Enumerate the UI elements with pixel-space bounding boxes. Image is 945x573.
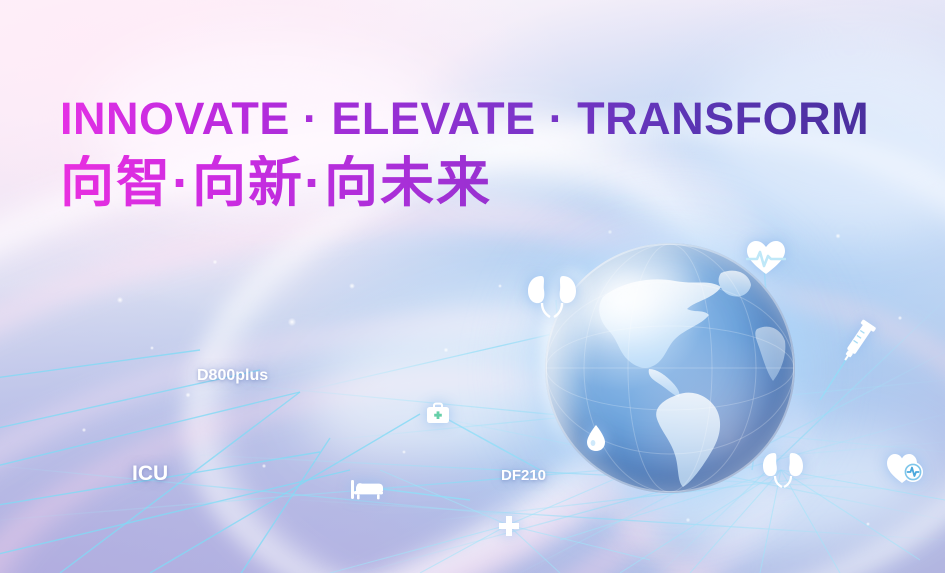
medical-kit-icon [426,402,450,424]
page-subtitle: 向智·向新·向未来 [60,155,869,212]
heart-monitor-icon [886,452,924,484]
hero-banner: INNOVATE · ELEVATE · TRANSFORM 向智·向新·向未来… [0,0,945,573]
page-title: INNOVATE · ELEVATE · TRANSFORM [60,96,869,141]
blood-drop-icon [585,424,607,452]
globe-rim [545,243,795,493]
heart-pulse-icon [746,240,786,276]
medical-cross-icon [498,515,520,537]
kidneys-lower-icon [760,450,806,490]
hospital-bed-icon [350,478,384,500]
headline-group: INNOVATE · ELEVATE · TRANSFORM 向智·向新·向未来 [60,96,869,212]
product-label-icu: ICU [132,462,168,486]
product-label-df210: DF210 [501,467,546,484]
product-label-d800plus: D800plus [197,367,268,385]
world-globe [545,243,795,493]
kidneys-icon [524,272,580,322]
